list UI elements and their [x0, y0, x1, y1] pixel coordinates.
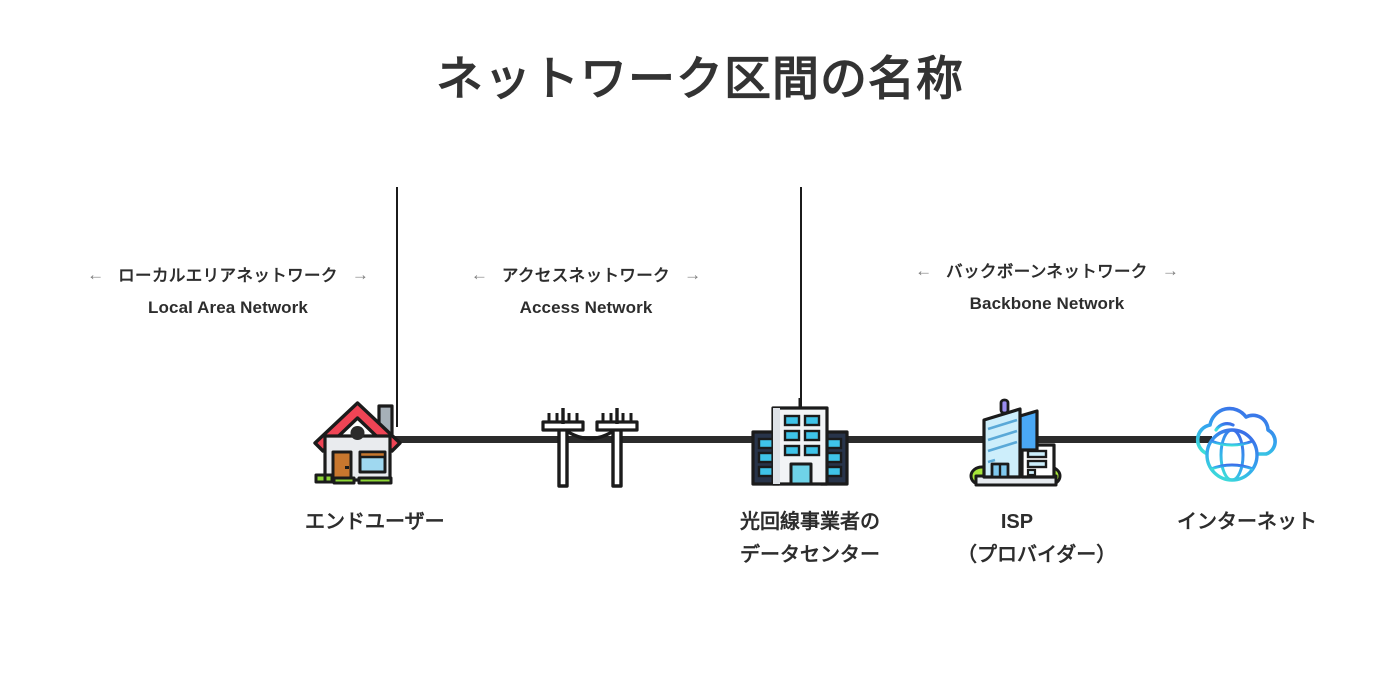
arrow-right-icon: → [352, 266, 369, 283]
office-building-icon-svg [962, 392, 1072, 492]
node-label: インターネット [1177, 506, 1297, 539]
segment-label-jp: アクセスネットワーク [502, 262, 670, 286]
cloud-globe-icon-svg [1182, 392, 1292, 492]
node-enduser: エンドユーザー [305, 392, 425, 539]
node-utility-poles [530, 392, 650, 492]
segment-label-jp: ローカルエリアネットワーク [118, 262, 338, 286]
house-icon-svg [310, 392, 420, 492]
node-label-line1: 光回線事業者の [740, 506, 860, 539]
node-label-line2: データセンター [740, 539, 860, 572]
node-label-line1: ISP [957, 506, 1077, 539]
node-label: ISP （プロバイダー） [957, 506, 1077, 572]
utility-poles-icon [530, 392, 650, 492]
house-icon [305, 392, 425, 492]
node-label-line2: （プロバイダー） [957, 539, 1077, 572]
arrow-left-icon: ← [915, 262, 932, 279]
cloud-globe-icon [1177, 392, 1297, 492]
segment-label-en: Local Area Network [58, 298, 398, 318]
node-internet: インターネット [1177, 392, 1297, 539]
node-isp: ISP （プロバイダー） [957, 392, 1077, 572]
arrow-right-icon: → [1162, 262, 1179, 279]
office-building-icon [957, 392, 1077, 492]
node-datacenter: 光回線事業者の データセンター [740, 392, 860, 572]
segment-divider-access-backbone [800, 187, 802, 427]
segment-label-access: ← アクセスネットワーク → Access Network [440, 262, 732, 318]
node-label: 光回線事業者の データセンター [740, 506, 860, 572]
node-label: エンドユーザー [305, 506, 425, 539]
page-title: ネットワーク区間の名称 [0, 52, 1400, 106]
data-center-building-icon-svg [745, 392, 855, 492]
segment-label-en: Backbone Network [882, 294, 1212, 314]
arrow-right-icon: → [684, 266, 701, 283]
segment-label-jp: バックボーンネットワーク [946, 258, 1148, 282]
segment-label-backbone: ← バックボーンネットワーク → Backbone Network [882, 258, 1212, 314]
arrow-left-icon: ← [87, 266, 104, 283]
diagram-canvas: ネットワーク区間の名称 ← ローカルエリアネットワーク → Local Area… [0, 0, 1400, 700]
segment-label-lan: ← ローカルエリアネットワーク → Local Area Network [58, 262, 398, 318]
utility-poles-icon-svg [535, 392, 645, 492]
segment-label-en: Access Network [440, 298, 732, 318]
data-center-building-icon [740, 392, 860, 492]
arrow-left-icon: ← [471, 266, 488, 283]
